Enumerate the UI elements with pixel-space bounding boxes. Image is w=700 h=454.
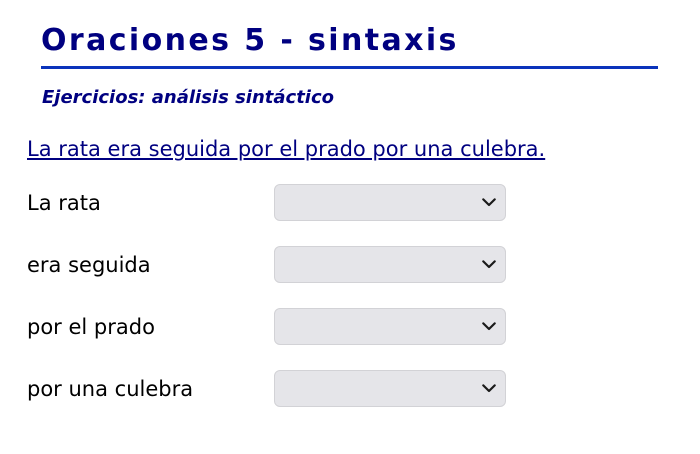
- analysis-select-por-una-culebra[interactable]: [274, 370, 506, 407]
- exercise-rows: La rata era seguida: [0, 184, 700, 432]
- row-label-la-rata: La rata: [27, 190, 101, 216]
- select-wrapper: [274, 370, 506, 407]
- title-divider: [41, 66, 658, 69]
- row-label-era-seguida: era seguida: [27, 252, 151, 278]
- analysis-select-la-rata[interactable]: [274, 184, 506, 221]
- exercise-row: por el prado: [0, 308, 700, 370]
- row-label-por-el-prado: por el prado: [27, 314, 155, 340]
- row-label-por-una-culebra: por una culebra: [27, 376, 193, 402]
- select-wrapper: [274, 308, 506, 345]
- exercise-row: La rata: [0, 184, 700, 246]
- exercise-row: era seguida: [0, 246, 700, 308]
- analysis-select-era-seguida[interactable]: [274, 246, 506, 283]
- select-wrapper: [274, 184, 506, 221]
- page-subtitle: Ejercicios: análisis sintáctico: [42, 86, 334, 110]
- analysis-select-por-el-prado[interactable]: [274, 308, 506, 345]
- select-wrapper: [274, 246, 506, 283]
- exercise-row: por una culebra: [0, 370, 700, 432]
- title-block: Oraciones 5 - sintaxis: [41, 22, 659, 60]
- page-title: Oraciones 5 - sintaxis: [41, 22, 659, 60]
- sentence-link[interactable]: La rata era seguida por el prado por una…: [27, 136, 545, 163]
- exercise-page: Oraciones 5 - sintaxis Ejercicios: análi…: [0, 0, 700, 454]
